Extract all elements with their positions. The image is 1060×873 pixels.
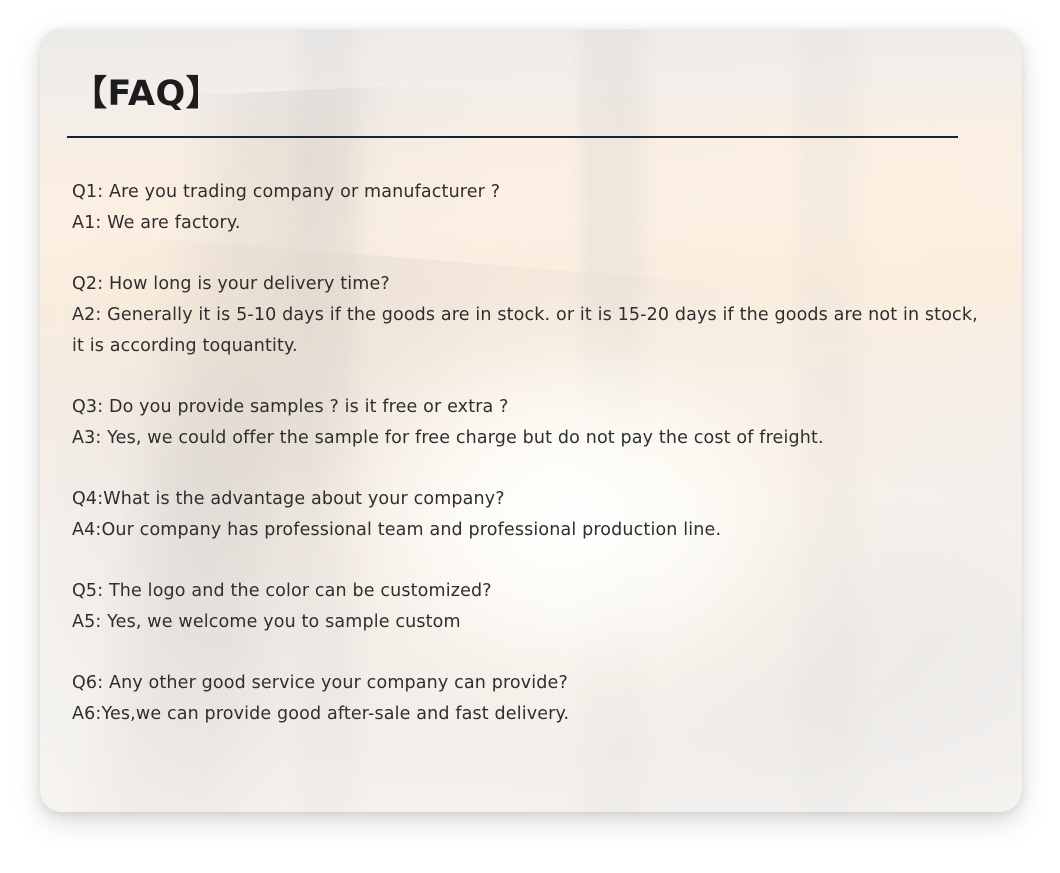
faq-content: 【FAQ】 Q1: Are you trading company or man… [40,29,1022,812]
faq-answer: A5: Yes, we welcome you to sample custom [72,607,988,638]
faq-question: Q6: Any other good service your company … [72,668,988,699]
faq-item: Q5: The logo and the color can be custom… [72,576,988,638]
faq-question: Q3: Do you provide samples ? is it free … [72,392,988,423]
faq-item: Q6: Any other good service your company … [72,668,988,730]
faq-question: Q1: Are you trading company or manufactu… [72,177,988,208]
faq-card: 【FAQ】 Q1: Are you trading company or man… [40,29,1022,812]
page-title: 【FAQ】 [72,77,221,112]
faq-item: Q2: How long is your delivery time? A2: … [72,269,988,362]
faq-page: 【FAQ】 Q1: Are you trading company or man… [0,0,1060,873]
faq-question: Q5: The logo and the color can be custom… [72,576,988,607]
faq-answer: A3: Yes, we could offer the sample for f… [72,423,988,454]
faq-answer: A6:Yes,we can provide good after-sale an… [72,699,988,730]
faq-question: Q4:What is the advantage about your comp… [72,484,988,515]
faq-list: Q1: Are you trading company or manufactu… [72,177,988,730]
faq-item: Q1: Are you trading company or manufactu… [72,177,988,239]
faq-item: Q3: Do you provide samples ? is it free … [72,392,988,454]
faq-question: Q2: How long is your delivery time? [72,269,988,300]
title-divider [67,136,958,138]
faq-answer: A1: We are factory. [72,208,988,239]
faq-answer: A4:Our company has professional team and… [72,515,988,546]
faq-item: Q4:What is the advantage about your comp… [72,484,988,546]
faq-answer: A2: Generally it is 5-10 days if the goo… [72,300,988,362]
